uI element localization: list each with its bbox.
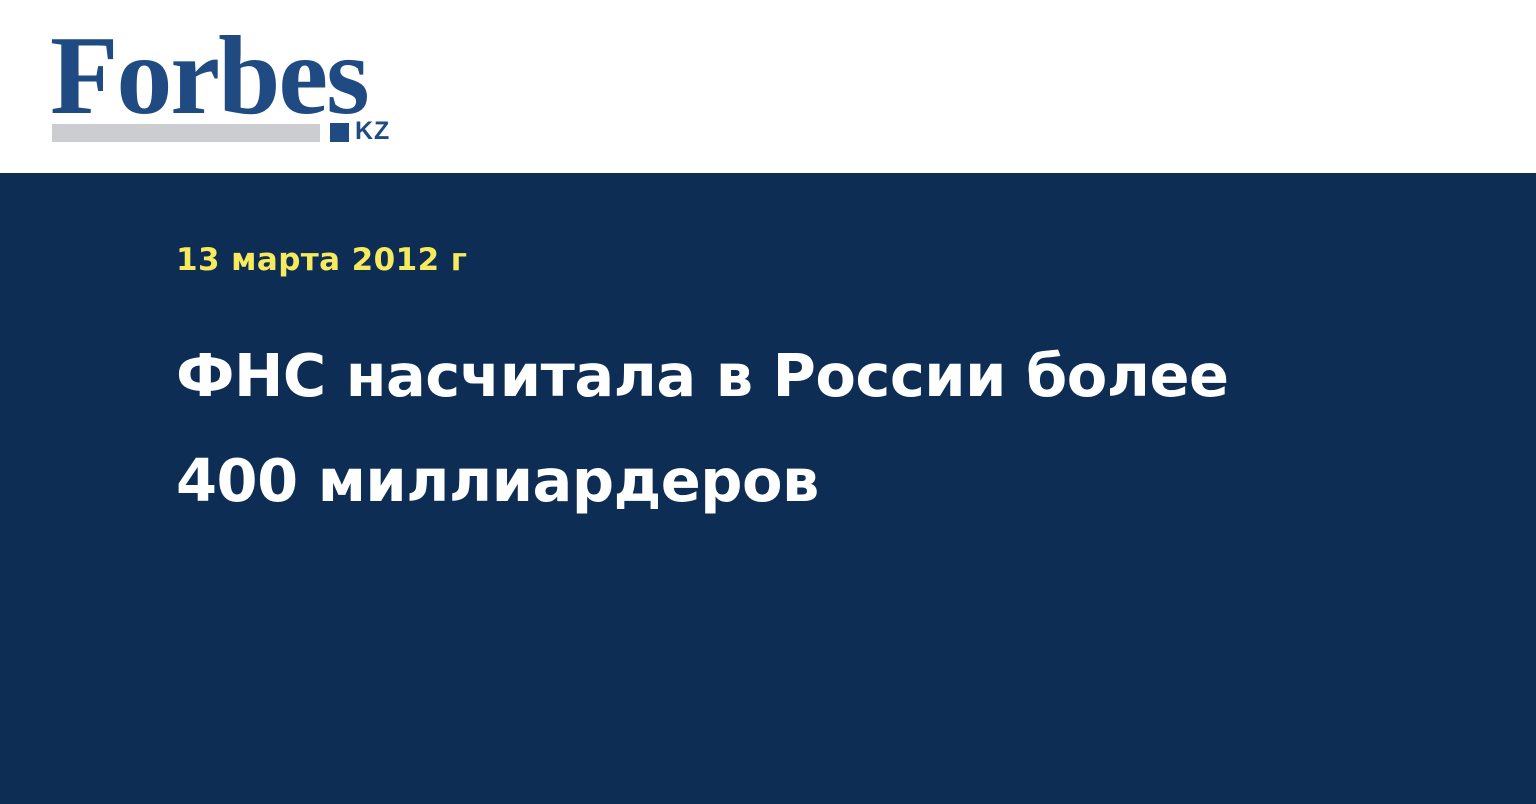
site-header: Forbes KZ <box>0 0 1536 173</box>
logo-square-icon <box>330 123 349 142</box>
logo-wordmark-text: Forbes <box>50 20 368 132</box>
article-headline: ФНС насчитала в России более 400 миллиар… <box>176 323 1266 533</box>
article-hero-page: Forbes KZ 13 марта 2012 г ФНС насчитала … <box>0 0 1536 804</box>
forbes-kz-logo[interactable]: Forbes KZ <box>50 20 410 145</box>
article-hero-content: 13 марта 2012 г ФНС насчитала в России б… <box>176 241 1376 533</box>
article-hero-banner: 13 марта 2012 г ФНС насчитала в России б… <box>0 173 1536 804</box>
logo-underbar-decoration <box>52 124 320 142</box>
article-publish-date: 13 марта 2012 г <box>176 241 1376 279</box>
logo-country-code-text: KZ <box>355 119 390 144</box>
